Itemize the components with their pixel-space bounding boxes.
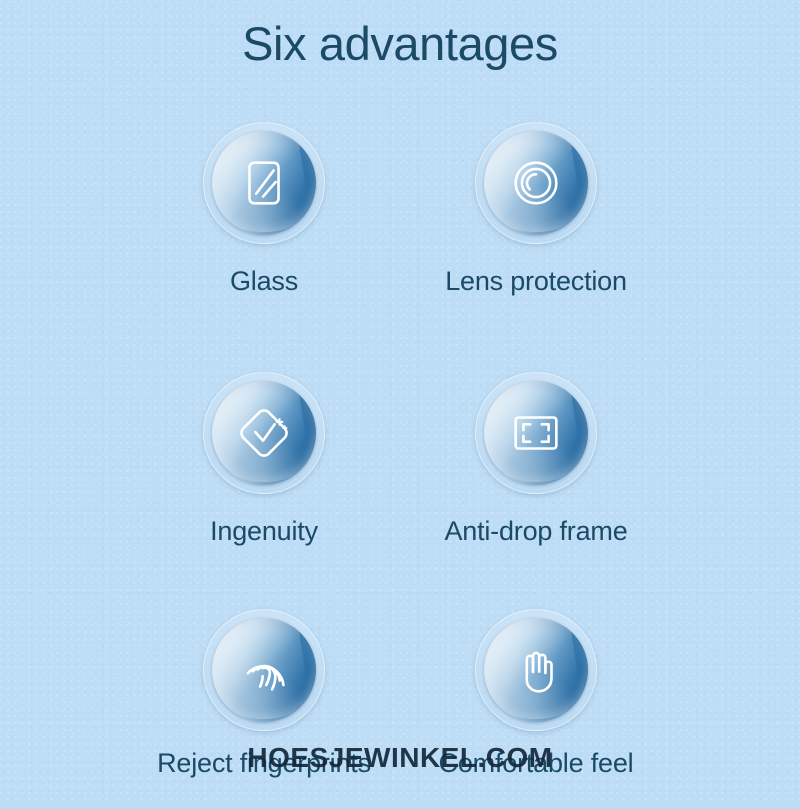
feature-label: Anti-drop frame <box>444 516 627 547</box>
gem-check-icon <box>212 381 316 485</box>
feature-badge <box>203 372 325 494</box>
camera-lens-icon <box>484 131 588 235</box>
badge-disc <box>212 131 316 235</box>
badge-disc <box>484 381 588 485</box>
badge-disc <box>484 131 588 235</box>
features-grid: Glass Lens protection <box>0 122 800 809</box>
fingerprint-icon <box>212 618 316 722</box>
feature-item-ingenuity[interactable]: Ingenuity <box>128 372 400 609</box>
feature-badge <box>475 609 597 731</box>
feature-badge <box>203 122 325 244</box>
glass-screen-icon <box>212 131 316 235</box>
feature-item-comfortable-feel[interactable]: Comfortable feel <box>400 609 672 809</box>
feature-label: Lens protection <box>445 266 627 297</box>
hand-palm-icon <box>484 618 588 722</box>
badge-disc <box>212 381 316 485</box>
feature-label: Ingenuity <box>210 516 318 547</box>
feature-item-reject-fingerprints[interactable]: Reject fingerprints <box>128 609 400 809</box>
feature-item-anti-drop-frame[interactable]: Anti-drop frame <box>400 372 672 609</box>
feature-item-glass[interactable]: Glass <box>128 122 400 372</box>
feature-item-lens-protection[interactable]: Lens protection <box>400 122 672 372</box>
feature-label: Glass <box>230 266 298 297</box>
page-title: Six advantages <box>0 16 800 71</box>
feature-badge <box>203 609 325 731</box>
badge-disc <box>212 618 316 722</box>
badge-disc <box>484 618 588 722</box>
feature-badge <box>475 122 597 244</box>
feature-label: Reject fingerprints <box>157 748 371 779</box>
feature-label: Comfortable feel <box>439 748 634 779</box>
feature-badge <box>475 372 597 494</box>
frame-brackets-icon <box>484 381 588 485</box>
